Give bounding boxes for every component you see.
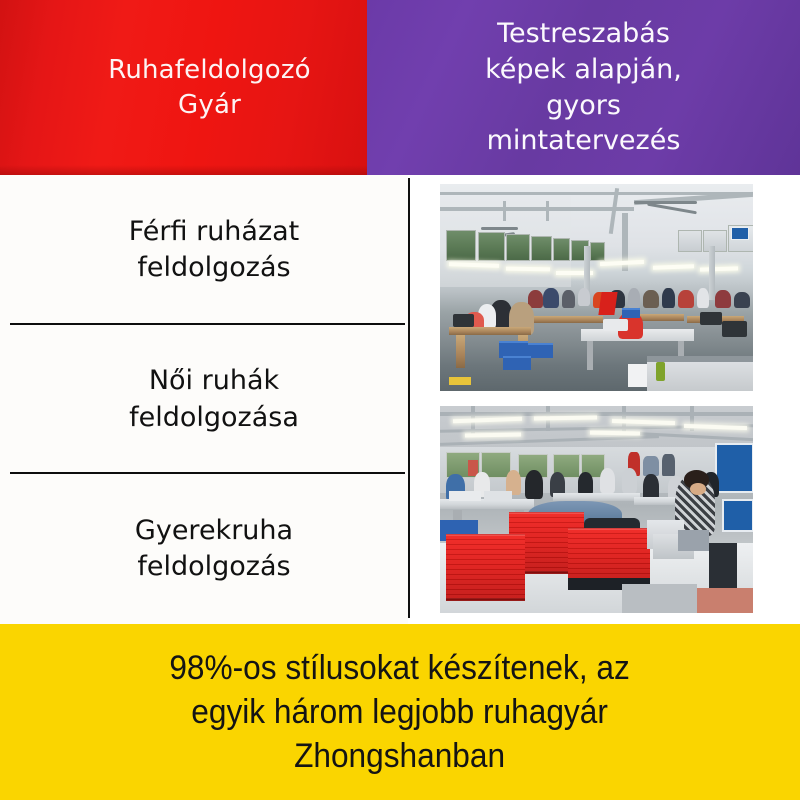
- column-divider: [408, 178, 410, 618]
- sewing-floor-photo: [440, 184, 753, 391]
- list-item: Férfi ruházat feldolgozás: [0, 175, 408, 325]
- promo-poster: Ruhafeldolgozó Gyár Testreszabás képek a…: [0, 0, 800, 800]
- customization-tagline: Testreszabás képek alapján, gyors mintat…: [485, 16, 682, 159]
- service-label-kids: Gyerekruha feldolgozás: [135, 513, 293, 585]
- poster-footer-banner: 98%-os stílusokat készítenek, az egyik h…: [0, 624, 800, 800]
- service-label-womens: Női ruhák feldolgozása: [129, 363, 299, 435]
- list-item: Gyerekruha feldolgozás: [0, 474, 408, 624]
- list-item: Női ruhák feldolgozása: [0, 325, 408, 475]
- footer-claim-text: 98%-os stílusokat készítenek, az egyik h…: [170, 646, 630, 779]
- photo-column: [440, 184, 753, 613]
- header-left-red-panel: Ruhafeldolgozó Gyár: [0, 0, 367, 175]
- service-list: Férfi ruházat feldolgozás Női ruhák feld…: [0, 175, 408, 624]
- factory-title: Ruhafeldolgozó Gyár: [108, 53, 311, 122]
- poster-header: Ruhafeldolgozó Gyár Testreszabás képek a…: [0, 0, 800, 175]
- header-right-purple-panel: Testreszabás képek alapján, gyors mintat…: [367, 0, 800, 175]
- packing-floor-photo: [440, 406, 753, 613]
- service-label-mens: Férfi ruházat feldolgozás: [129, 214, 300, 286]
